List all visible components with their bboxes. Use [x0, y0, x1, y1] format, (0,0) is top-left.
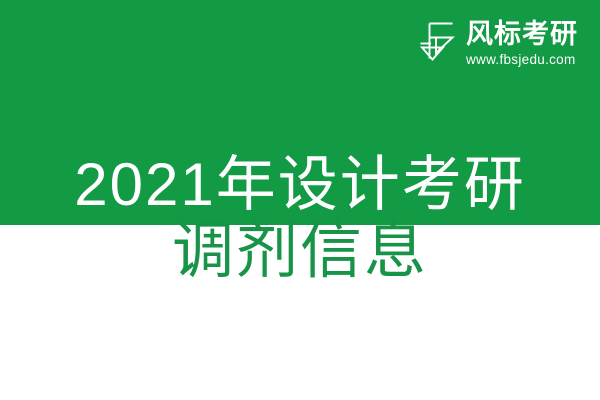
brand-name: 风标考研: [466, 19, 578, 49]
brand-logo[interactable]: 风标考研 www.fbsjedu.com: [419, 18, 578, 68]
fbsj-monogram-logo-icon: [419, 18, 459, 63]
headline-block: 2021年设计考研 调剂信息: [0, 150, 600, 288]
brand-text-block: 风标考研 www.fbsjedu.com: [466, 18, 578, 68]
brand-url: www.fbsjedu.com: [466, 51, 576, 68]
poster-canvas: 风标考研 www.fbsjedu.com 2021年设计考研 调剂信息: [0, 0, 600, 400]
title-line-1: 2021年设计考研: [0, 150, 600, 220]
title-line-2: 调剂信息: [0, 216, 600, 288]
